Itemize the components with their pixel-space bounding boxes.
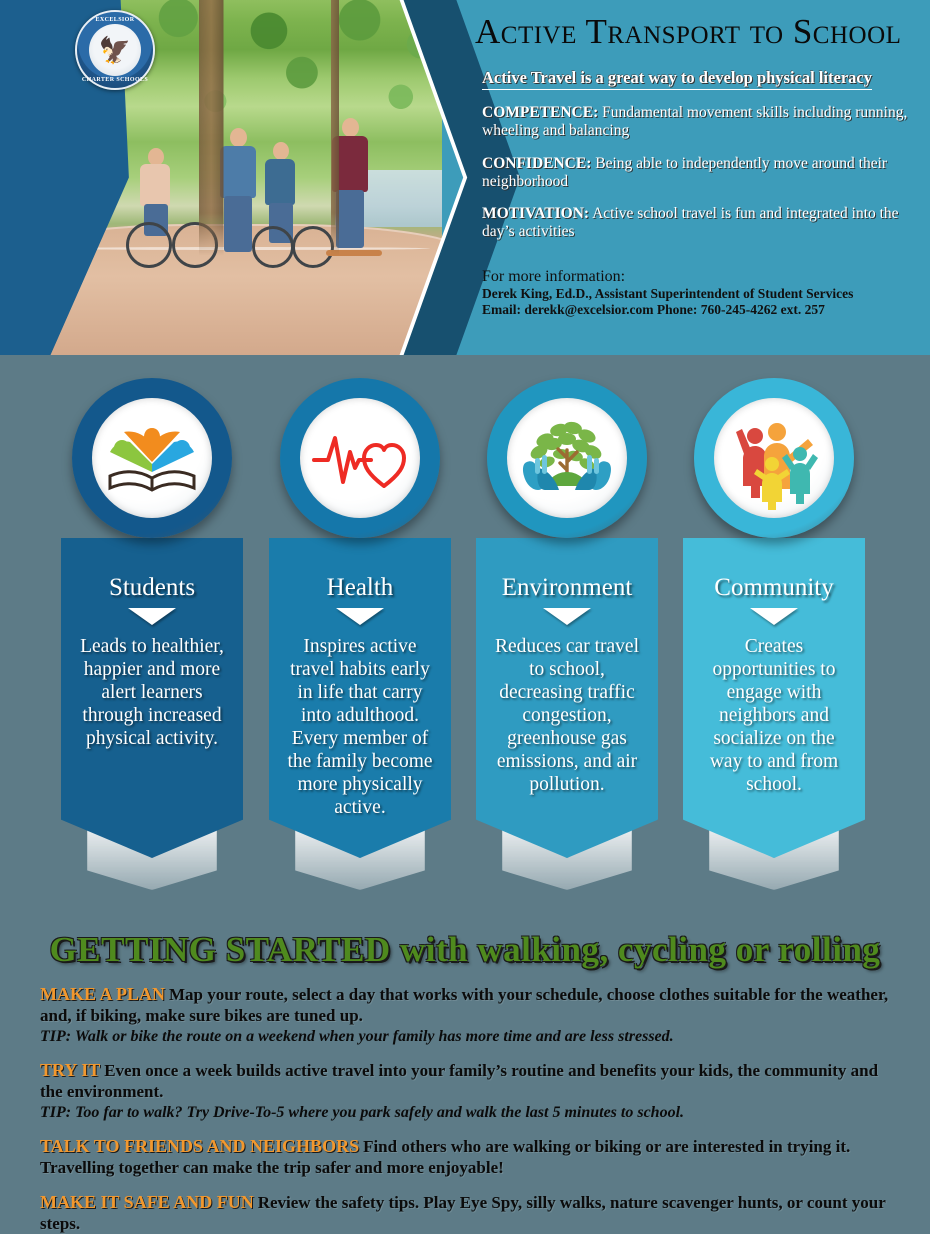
contact-heading: For more information: (482, 268, 930, 286)
ribbon-health: Health Inspires active travel habits ear… (269, 538, 451, 858)
tip-note-key-1: TIP: (40, 1104, 71, 1121)
pillar-environment: Environment Reduces car travel to school… (462, 355, 672, 920)
page-title: Active Transport to School (475, 12, 930, 52)
header-point-confidence: CONFIDENCE: Being able to independently … (482, 155, 920, 192)
header-banner: EXCELSIOR CHARTER SCHOOLS 🦅 Active Trans… (0, 0, 930, 355)
tip-note-0: TIP: Walk or bike the route on a weekend… (40, 1027, 894, 1046)
tip-note-key-0: TIP: (40, 1028, 71, 1045)
badge-health (280, 378, 440, 538)
open-book-people-icon (92, 398, 212, 518)
tip-text-0: Map your route, select a day that works … (40, 985, 888, 1025)
tip-label-make-a-plan: MAKE A PLAN (40, 984, 165, 1004)
tip-body-1: TRY ITEven once a week builds active tra… (40, 1060, 894, 1102)
tip-try-it: TRY ITEven once a week builds active tra… (0, 1060, 930, 1122)
badge-environment (487, 378, 647, 538)
heartbeat-heart-icon (300, 398, 420, 518)
pillar-text-community: Creates opportunities to engage with nei… (693, 635, 855, 796)
pillar-text-environment: Reduces car travel to school, decreasing… (486, 635, 648, 796)
tip-text-1: Even once a week builds active travel in… (40, 1061, 878, 1101)
tip-talk-to-friends: TALK TO FRIENDS AND NEIGHBORSFind others… (0, 1136, 930, 1178)
down-arrow-icon (128, 608, 176, 625)
ribbon-environment: Environment Reduces car travel to school… (476, 538, 658, 858)
point-label-competence: COMPETENCE: (482, 104, 598, 121)
point-label-confidence: CONFIDENCE: (482, 155, 591, 172)
logo-inner-disc: 🦅 (89, 24, 141, 76)
pillar-community: Community Creates opportunities to engag… (669, 355, 879, 920)
school-logo: EXCELSIOR CHARTER SCHOOLS 🦅 (75, 10, 155, 90)
header-subtitle: Active Travel is a great way to develop … (482, 68, 872, 90)
pillar-health: Health Inspires active travel habits ear… (255, 355, 465, 920)
point-label-motivation: MOTIVATION: (482, 205, 589, 222)
badge-community (694, 378, 854, 538)
header-text-panel: Active Transport to School Active Travel… (470, 0, 930, 355)
tip-make-a-plan: MAKE A PLANMap your route, select a day … (0, 984, 930, 1046)
pillar-title-health: Health (279, 574, 441, 602)
tip-note-1: TIP: Too far to walk? Try Drive-To-5 whe… (40, 1103, 894, 1122)
family-group-icon (714, 398, 834, 518)
pillar-title-students: Students (71, 574, 233, 602)
pillar-text-students: Leads to healthier, happier and more ale… (71, 635, 233, 750)
down-arrow-icon (750, 608, 798, 625)
ribbon-students: Students Leads to healthier, happier and… (61, 538, 243, 858)
tree-in-hands-icon (507, 398, 627, 518)
down-arrow-icon (336, 608, 384, 625)
heading-strong: GETTING STARTED (50, 930, 391, 969)
logo-bottom-text: CHARTER SCHOOLS (82, 77, 148, 83)
heading-rest: with walking, cycling or rolling (391, 930, 881, 969)
contact-person: Derek King, Ed.D., Assistant Superintend… (482, 286, 930, 302)
contact-info: For more information: Derek King, Ed.D.,… (482, 268, 930, 317)
tip-label-try-it: TRY IT (40, 1060, 100, 1080)
tip-body-2: TALK TO FRIENDS AND NEIGHBORSFind others… (40, 1136, 894, 1178)
tip-label-talk-to-friends: TALK TO FRIENDS AND NEIGHBORS (40, 1136, 359, 1156)
eagle-crest-icon: 🦅 (99, 38, 131, 64)
tip-label-make-it-safe: MAKE IT SAFE AND FUN (40, 1192, 254, 1212)
pillar-title-environment: Environment (486, 574, 648, 602)
tip-note-text-1: Too far to walk? Try Drive-To-5 where yo… (71, 1104, 684, 1121)
header-point-motivation: MOTIVATION: Active school travel is fun … (482, 205, 920, 242)
pillar-title-community: Community (693, 574, 855, 602)
tip-body-0: MAKE A PLANMap your route, select a day … (40, 984, 894, 1026)
badge-students (72, 378, 232, 538)
tip-make-it-safe: MAKE IT SAFE AND FUNReview the safety ti… (0, 1192, 930, 1234)
pillar-students: Students Leads to healthier, happier and… (47, 355, 257, 920)
contact-email-phone: Email: derekk@excelsior.com Phone: 760-2… (482, 302, 930, 318)
tip-body-3: MAKE IT SAFE AND FUNReview the safety ti… (40, 1192, 894, 1234)
photo-lake (335, 170, 442, 227)
pillars-section: Students Leads to healthier, happier and… (0, 355, 930, 920)
logo-top-text: EXCELSIOR (96, 17, 135, 23)
getting-started-section: GETTING STARTED with walking, cycling or… (0, 920, 930, 1218)
pillar-text-health: Inspires active travel habits early in l… (279, 635, 441, 819)
getting-started-heading: GETTING STARTED with walking, cycling or… (0, 930, 930, 970)
down-arrow-icon (543, 608, 591, 625)
tip-note-text-0: Walk or bike the route on a weekend when… (71, 1028, 674, 1045)
header-point-competence: COMPETENCE: Fundamental movement skills … (482, 104, 920, 141)
ribbon-community: Community Creates opportunities to engag… (683, 538, 865, 858)
